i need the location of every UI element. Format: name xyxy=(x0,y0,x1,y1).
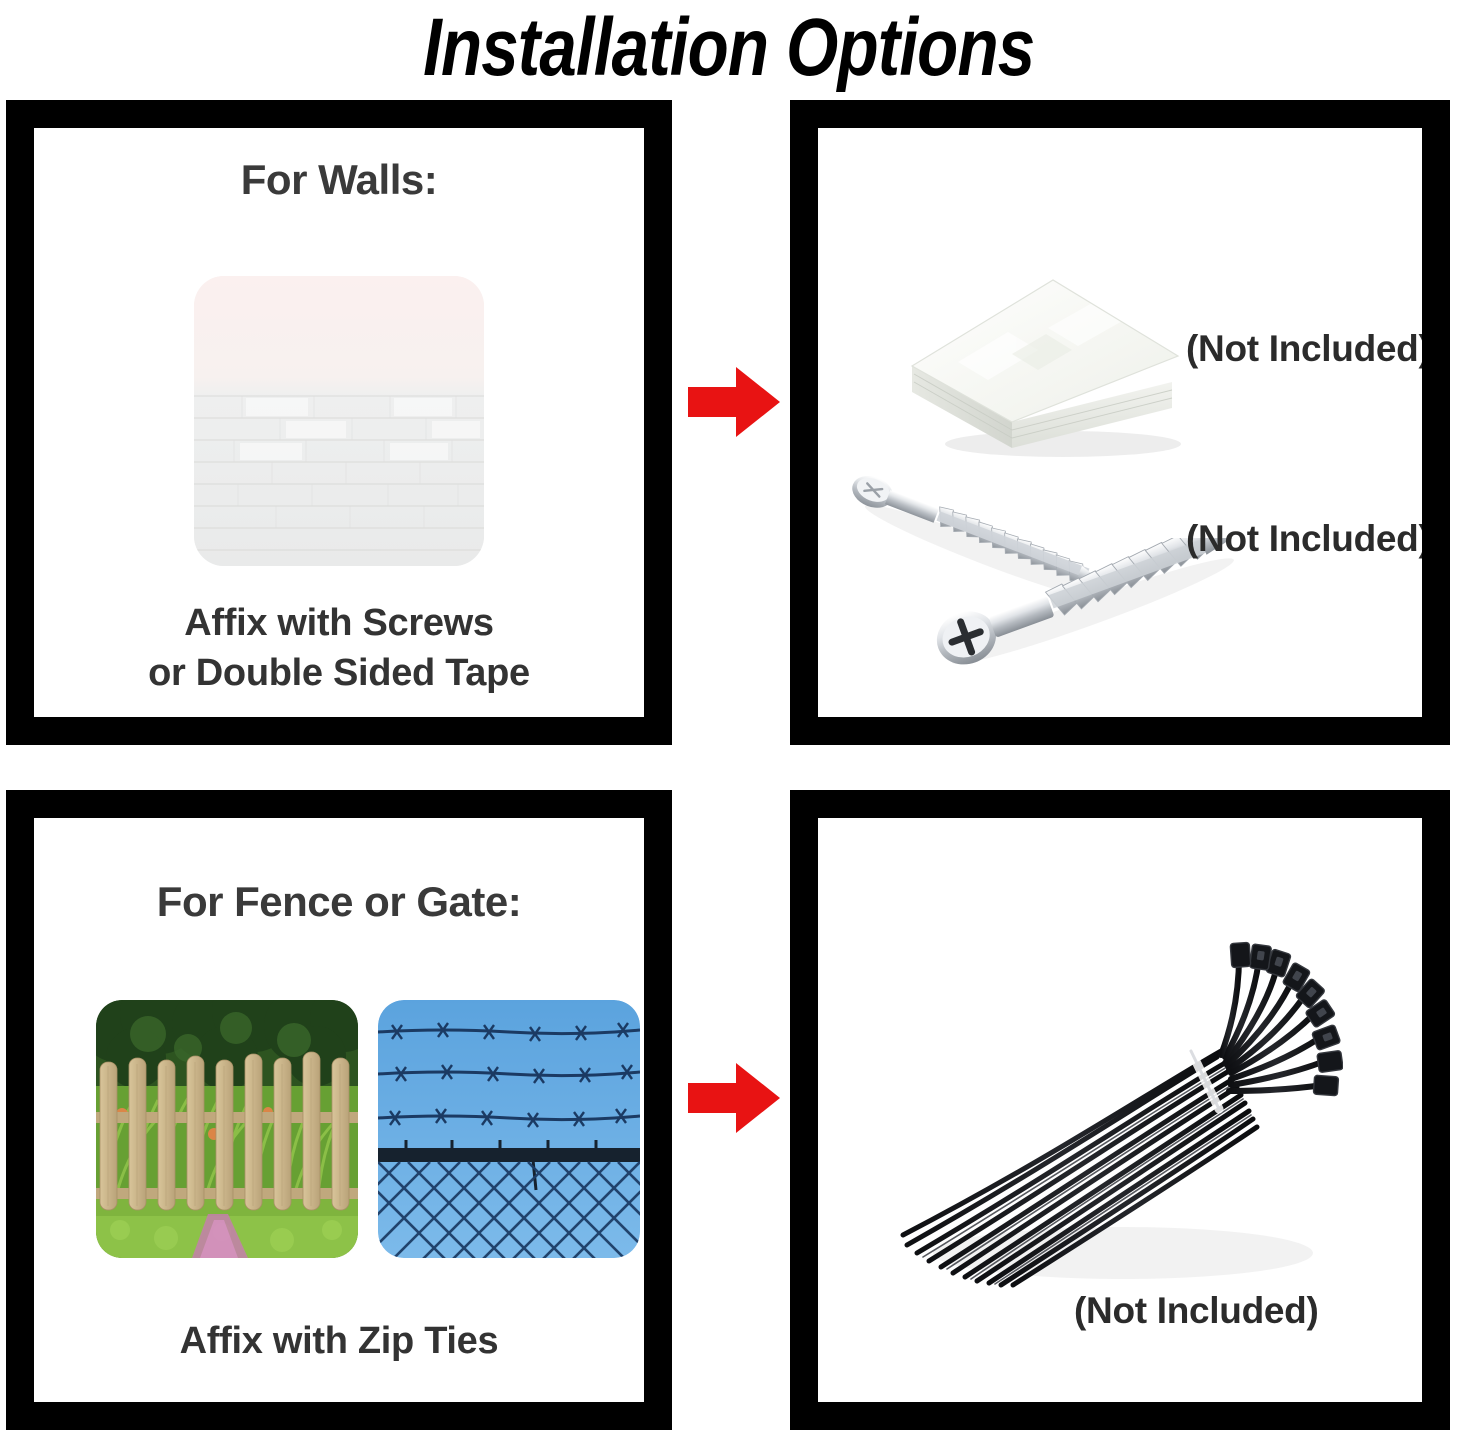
white-brick-wall-photo xyxy=(194,276,484,566)
page-title: Installation Options xyxy=(423,7,1034,89)
wooden-picket-fence-photo xyxy=(96,1000,358,1258)
panel-for-fence-content: For Fence or Gate: xyxy=(34,818,644,1402)
wood-screw-lower xyxy=(928,538,1298,688)
panel-zip-ties: (Not Included) xyxy=(790,790,1450,1430)
panel-wall-hardware-content: (Not Included) xyxy=(818,128,1422,717)
for-walls-heading: For Walls: xyxy=(34,156,644,204)
fence-caption: Affix with Zip Ties xyxy=(34,1316,644,1366)
zip-ties-not-included-label: (Not Included) xyxy=(1074,1290,1318,1332)
walls-caption-line-1: Affix with Screws xyxy=(34,598,644,648)
walls-caption-line-2: or Double Sided Tape xyxy=(34,648,644,698)
tape-not-included-label: (Not Included) xyxy=(1186,328,1422,370)
panel-zip-ties-content: (Not Included) xyxy=(818,818,1422,1402)
for-fence-heading: For Fence or Gate: xyxy=(34,878,644,926)
panel-for-walls-content: For Walls: xyxy=(34,128,644,717)
red-arrow-fence-to-zipties xyxy=(686,1060,782,1136)
panel-for-walls: For Walls: xyxy=(6,100,672,745)
panel-wall-hardware: (Not Included) xyxy=(790,100,1450,745)
double-sided-tape-stack-photo xyxy=(888,258,1208,468)
panel-for-fence-or-gate: For Fence or Gate: xyxy=(6,790,672,1430)
title-bar: Installation Options xyxy=(0,0,1457,96)
fence-caption-line-1: Affix with Zip Ties xyxy=(34,1316,644,1366)
chain-link-barbed-wire-fence-photo xyxy=(378,1000,640,1258)
walls-caption: Affix with Screws or Double Sided Tape xyxy=(34,598,644,698)
screws-not-included-label: (Not Included) xyxy=(1186,518,1422,560)
red-arrow-walls-to-hardware xyxy=(686,364,782,440)
black-zip-ties-bundle-photo xyxy=(873,923,1343,1313)
